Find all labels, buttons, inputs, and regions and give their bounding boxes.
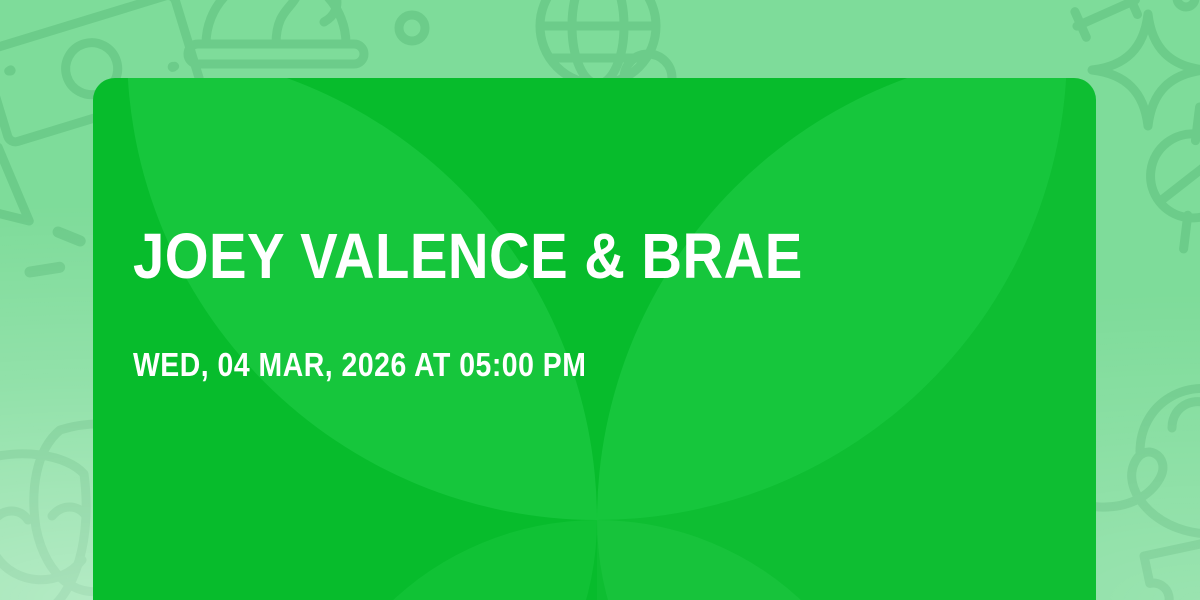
ticket-stub-icon bbox=[1144, 531, 1200, 600]
star-dot-icon bbox=[1177, 0, 1195, 7]
petal-lower-right bbox=[597, 520, 897, 600]
barbell-icon bbox=[1071, 0, 1141, 39]
petal-upper-left bbox=[127, 78, 597, 520]
globe-icon bbox=[540, 0, 656, 84]
event-title: JOEY VALENCE & BRAE bbox=[133, 224, 803, 288]
dash-mark-icon bbox=[58, 232, 80, 241]
ring-circle-icon bbox=[399, 15, 425, 41]
microphone-icon bbox=[1121, 107, 1200, 249]
event-date: WED, 04 MAR, 2026 AT 05:00 PM bbox=[133, 348, 586, 381]
dash-mark-icon bbox=[30, 267, 60, 272]
poster-stage: JOEY VALENCE & BRAE WED, 04 MAR, 2026 AT… bbox=[0, 0, 1200, 600]
party-popper-icon bbox=[0, 136, 45, 221]
sparkle-icon bbox=[1092, 14, 1200, 126]
swirl-arc-icon bbox=[1140, 388, 1200, 452]
petal-highlight bbox=[597, 78, 1096, 600]
food-bowl-icon bbox=[188, 0, 364, 64]
petal-upper-right bbox=[597, 78, 1067, 520]
card-petal-pattern bbox=[93, 78, 1096, 600]
petal-lower-left bbox=[297, 520, 597, 600]
event-card[interactable]: JOEY VALENCE & BRAE WED, 04 MAR, 2026 AT… bbox=[93, 78, 1096, 600]
